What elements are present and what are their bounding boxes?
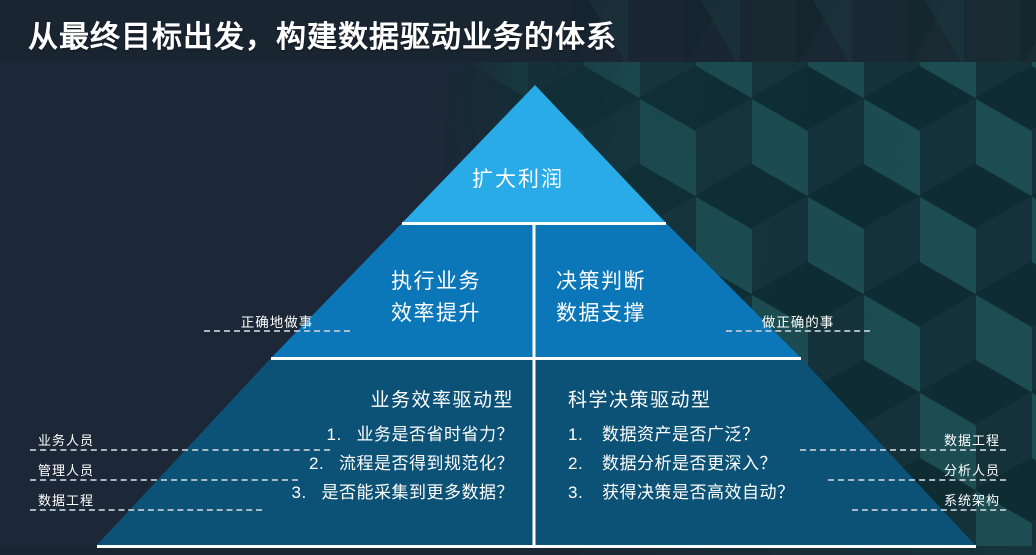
annotation-right-role-2: 分析人员 (876, 460, 1000, 479)
list-item: 2. 流程是否得到规范化？ (170, 449, 520, 478)
pyramid-tier2-left-line2: 效率提升 (352, 298, 520, 330)
pyramid-tier3-left-block: 业务效率驱动型 1. 业务是否省时省力？ 2. 流程是否得到规范化？ 3. 是否… (170, 388, 520, 507)
annotation-left-role-2: 管理人员 (38, 460, 94, 479)
pyramid-tier3-left-list: 1. 业务是否省时省力？ 2. 流程是否得到规范化？ 3. 是否能采集到更多数据… (170, 420, 520, 507)
pyramid-tier3-right-block: 科学决策驱动型 1. 数据资产是否广泛？ 2. 数据分析是否更深入？ 3. 获得… (568, 388, 918, 507)
pyramid-tier2-right-line1: 决策判断 (556, 266, 724, 298)
pyramid-tier1-label: 扩大利润 (0, 163, 1036, 193)
pyramid-tier2-right-line2: 数据支撑 (556, 298, 724, 330)
list-item: 3. 获得决策是否高效自动？ (568, 478, 918, 507)
list-item-text: 数据分析是否更深入？ (602, 449, 777, 478)
list-item-text: 流程是否得到规范化？ (339, 449, 514, 478)
annotation-left-role-3: 数据工程 (38, 490, 94, 509)
list-item-number: 3. (568, 478, 602, 507)
pyramid-tier3-left-heading: 业务效率驱动型 (170, 388, 520, 414)
list-item-number: 2. (309, 449, 339, 478)
list-item: 3. 是否能采集到更多数据？ (170, 478, 520, 507)
connector-dash-right-role-1 (800, 449, 1006, 451)
list-item: 2. 数据分析是否更深入？ (568, 449, 918, 478)
list-item-number: 2. (568, 449, 602, 478)
pyramid-tier3-right-list: 1. 数据资产是否广泛？ 2. 数据分析是否更深入？ 3. 获得决策是否高效自动… (568, 420, 918, 507)
connector-dash-right-role-2 (828, 479, 1006, 481)
list-item-text: 获得决策是否高效自动？ (602, 478, 795, 507)
connector-dash-left-role-3 (30, 509, 262, 511)
list-item: 1. 业务是否省时省力？ (170, 420, 520, 449)
annotation-right-role-1: 数据工程 (876, 430, 1000, 449)
annotation-middle-left: 正确地做事 (204, 311, 350, 331)
list-item-text: 业务是否省时省力？ (357, 420, 515, 449)
pyramid-tier2-left-line1: 执行业务 (352, 266, 520, 298)
pyramid-tier2-right-label: 决策判断 数据支撑 (556, 266, 724, 330)
list-item-number: 1. (327, 420, 357, 449)
list-item: 1. 数据资产是否广泛？ (568, 420, 918, 449)
connector-dash-right-role-3 (852, 509, 1006, 511)
pyramid-tier3-right-heading: 科学决策驱动型 (568, 388, 918, 414)
list-item-number: 1. (568, 420, 602, 449)
list-item-number: 3. (292, 478, 322, 507)
pyramid-tier1-body (403, 85, 665, 222)
pyramid-tier2-left-label: 执行业务 效率提升 (352, 266, 520, 330)
annotation-left-role-1: 业务人员 (38, 430, 94, 449)
annotation-middle-right: 做正确的事 (726, 311, 870, 331)
connector-dash-left-role-1 (30, 449, 330, 451)
list-item-text: 数据资产是否广泛？ (602, 420, 760, 449)
list-item-text: 是否能采集到更多数据？ (322, 478, 515, 507)
connector-dash-left-role-2 (30, 479, 298, 481)
annotation-right-role-3: 系统架构 (872, 490, 1000, 509)
